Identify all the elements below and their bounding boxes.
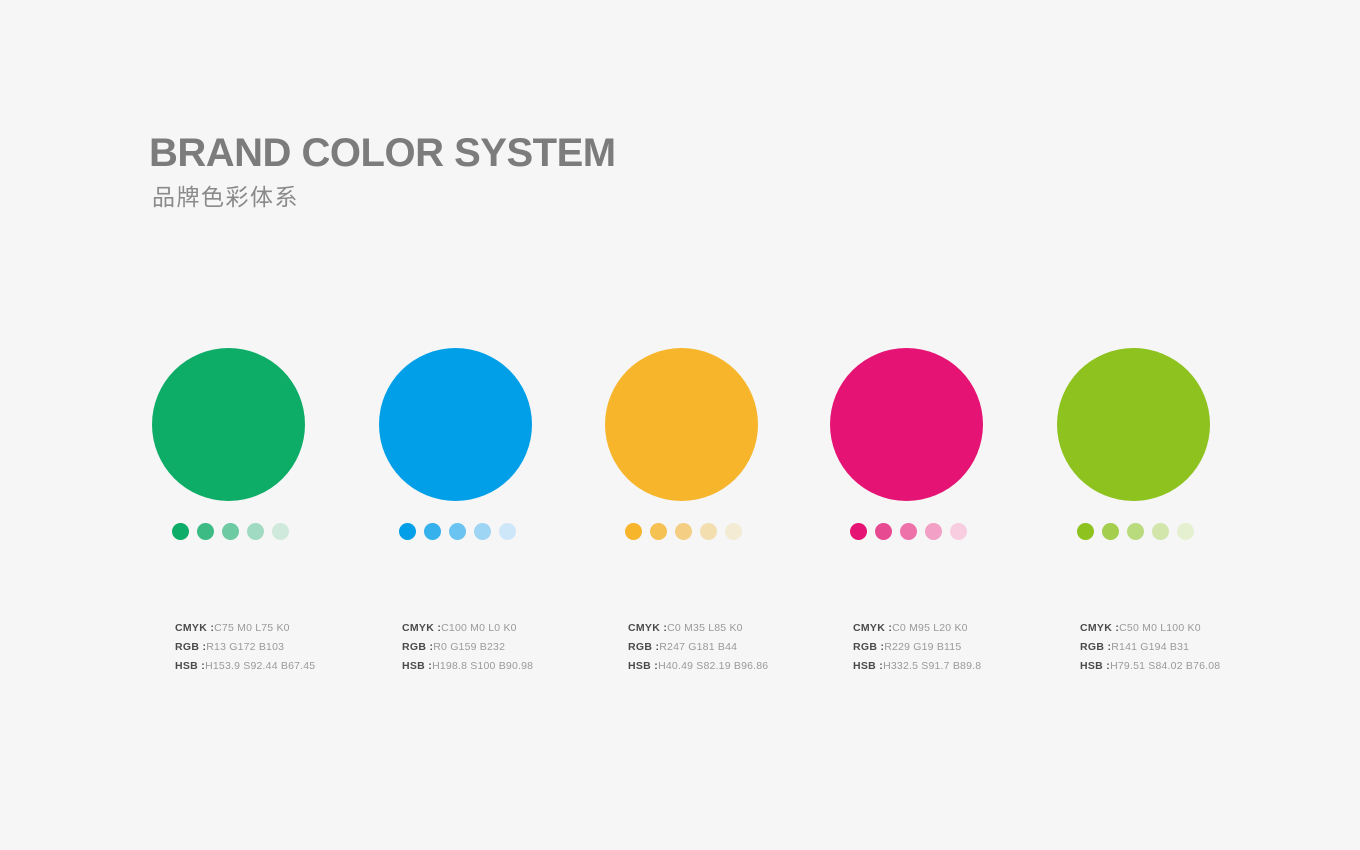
cmyk-value: C75 M0 L75 K0: [214, 622, 290, 634]
tint-dot: [700, 523, 717, 540]
rgb-line: RGB :R141 G194 B31: [1080, 638, 1310, 657]
rgb-line: RGB :R0 G159 B232: [402, 638, 632, 657]
tint-dot: [1102, 523, 1119, 540]
rgb-value: R0 G159 B232: [433, 641, 505, 653]
tint-dot: [247, 523, 264, 540]
rgb-line: RGB :R13 G172 B103: [175, 638, 405, 657]
hsb-label: HSB :: [628, 660, 658, 672]
tint-dot: [925, 523, 942, 540]
hsb-line: HSB :H198.8 S100 B90.98: [402, 657, 632, 676]
tint-scale: [172, 523, 289, 540]
hsb-label: HSB :: [1080, 660, 1110, 672]
hsb-label: HSB :: [175, 660, 205, 672]
tint-scale: [625, 523, 742, 540]
tint-dot: [1177, 523, 1194, 540]
color-swatch-brand-magenta: CMYK :C0 M95 L20 K0 RGB :R229 G19 B115 H…: [830, 348, 1030, 501]
tint-dot: [875, 523, 892, 540]
tint-dot: [900, 523, 917, 540]
cmyk-value: C0 M95 L20 K0: [892, 622, 968, 634]
tint-dot: [725, 523, 742, 540]
tint-dot: [1127, 523, 1144, 540]
color-palette: CMYK :C75 M0 L75 K0 RGB :R13 G172 B103 H…: [152, 348, 1212, 688]
color-swatch-brand-green: CMYK :C75 M0 L75 K0 RGB :R13 G172 B103 H…: [152, 348, 352, 501]
tint-dot: [675, 523, 692, 540]
page-subtitle: 品牌色彩体系: [152, 182, 849, 214]
hsb-value: H198.8 S100 B90.98: [432, 660, 533, 672]
tint-dot: [474, 523, 491, 540]
tint-dot: [1077, 523, 1094, 540]
tint-scale: [1077, 523, 1194, 540]
cmyk-label: CMYK :: [853, 622, 892, 634]
tint-scale: [850, 523, 967, 540]
main-color-circle: [1057, 348, 1210, 501]
hsb-value: H332.5 S91.7 B89.8: [883, 660, 981, 672]
hsb-line: HSB :H40.49 S82.19 B96.86: [628, 657, 858, 676]
cmyk-label: CMYK :: [628, 622, 667, 634]
color-spec: CMYK :C0 M95 L20 K0 RGB :R229 G19 B115 H…: [853, 619, 1083, 676]
rgb-label: RGB :: [175, 641, 206, 653]
cmyk-line: CMYK :C0 M95 L20 K0: [853, 619, 1083, 638]
tint-dot: [222, 523, 239, 540]
tint-dot: [499, 523, 516, 540]
tint-dot: [449, 523, 466, 540]
rgb-value: R13 G172 B103: [206, 641, 284, 653]
hsb-value: H79.51 S84.02 B76.08: [1110, 660, 1220, 672]
color-spec: CMYK :C50 M0 L100 K0 RGB :R141 G194 B31 …: [1080, 619, 1310, 676]
color-swatch-brand-blue: CMYK :C100 M0 L0 K0 RGB :R0 G159 B232 HS…: [379, 348, 579, 501]
color-spec: CMYK :C75 M0 L75 K0 RGB :R13 G172 B103 H…: [175, 619, 405, 676]
hsb-value: H40.49 S82.19 B96.86: [658, 660, 768, 672]
page-title: BRAND COLOR SYSTEM: [149, 130, 849, 176]
tint-scale: [399, 523, 516, 540]
cmyk-label: CMYK :: [175, 622, 214, 634]
tint-dot: [1152, 523, 1169, 540]
hsb-label: HSB :: [853, 660, 883, 672]
color-swatch-brand-lime: CMYK :C50 M0 L100 K0 RGB :R141 G194 B31 …: [1057, 348, 1257, 501]
rgb-label: RGB :: [402, 641, 433, 653]
tint-dot: [424, 523, 441, 540]
main-color-circle: [605, 348, 758, 501]
cmyk-label: CMYK :: [402, 622, 441, 634]
main-color-circle: [152, 348, 305, 501]
tint-dot: [625, 523, 642, 540]
cmyk-value: C0 M35 L85 K0: [667, 622, 743, 634]
rgb-label: RGB :: [628, 641, 659, 653]
color-spec: CMYK :C100 M0 L0 K0 RGB :R0 G159 B232 HS…: [402, 619, 632, 676]
tint-dot: [172, 523, 189, 540]
tint-dot: [399, 523, 416, 540]
rgb-label: RGB :: [853, 641, 884, 653]
hsb-line: HSB :H79.51 S84.02 B76.08: [1080, 657, 1310, 676]
cmyk-line: CMYK :C100 M0 L0 K0: [402, 619, 632, 638]
rgb-value: R141 G194 B31: [1111, 641, 1189, 653]
cmyk-line: CMYK :C75 M0 L75 K0: [175, 619, 405, 638]
rgb-value: R229 G19 B115: [884, 641, 961, 653]
main-color-circle: [379, 348, 532, 501]
tint-dot: [850, 523, 867, 540]
main-color-circle: [830, 348, 983, 501]
rgb-line: RGB :R229 G19 B115: [853, 638, 1083, 657]
color-swatch-brand-amber: CMYK :C0 M35 L85 K0 RGB :R247 G181 B44 H…: [605, 348, 805, 501]
hsb-line: HSB :H153.9 S92.44 B67.45: [175, 657, 405, 676]
tint-dot: [650, 523, 667, 540]
tint-dot: [272, 523, 289, 540]
hsb-label: HSB :: [402, 660, 432, 672]
tint-dot: [950, 523, 967, 540]
tint-dot: [197, 523, 214, 540]
cmyk-label: CMYK :: [1080, 622, 1119, 634]
page-header: BRAND COLOR SYSTEM 品牌色彩体系: [149, 130, 849, 214]
cmyk-value: C50 M0 L100 K0: [1119, 622, 1201, 634]
brand-color-system-page: { "page": { "background": "#f6f6f6", "ti…: [0, 0, 1360, 850]
rgb-label: RGB :: [1080, 641, 1111, 653]
hsb-value: H153.9 S92.44 B67.45: [205, 660, 315, 672]
cmyk-line: CMYK :C50 M0 L100 K0: [1080, 619, 1310, 638]
cmyk-value: C100 M0 L0 K0: [441, 622, 517, 634]
rgb-line: RGB :R247 G181 B44: [628, 638, 858, 657]
rgb-value: R247 G181 B44: [659, 641, 737, 653]
color-spec: CMYK :C0 M35 L85 K0 RGB :R247 G181 B44 H…: [628, 619, 858, 676]
cmyk-line: CMYK :C0 M35 L85 K0: [628, 619, 858, 638]
hsb-line: HSB :H332.5 S91.7 B89.8: [853, 657, 1083, 676]
